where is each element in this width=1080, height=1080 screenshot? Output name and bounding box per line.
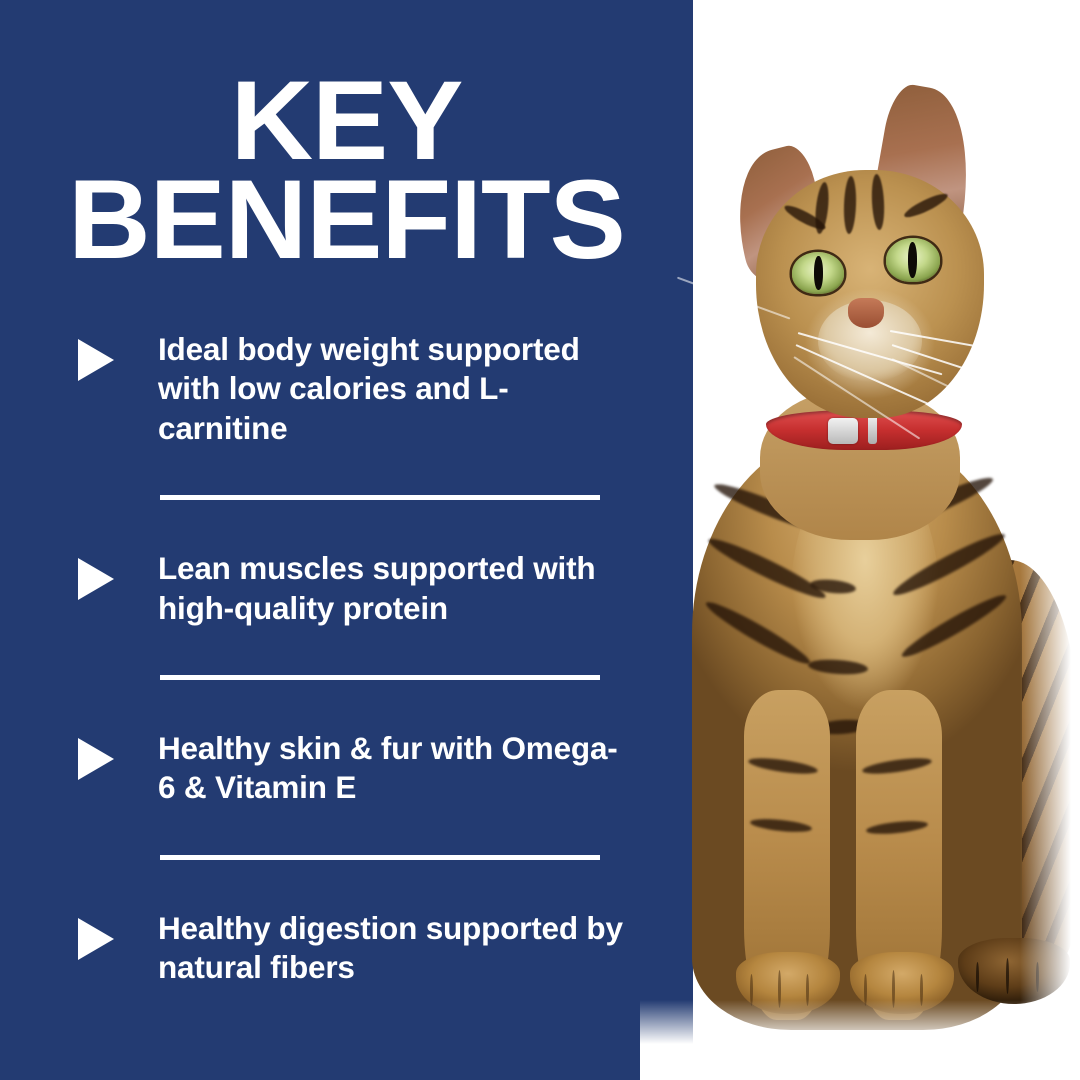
cat-pupil-right <box>908 242 917 278</box>
list-item: Ideal body weight supported with low cal… <box>0 330 693 448</box>
benefit-text: Healthy skin & fur with Omega-6 & Vitami… <box>158 729 628 808</box>
spacer <box>0 448 693 495</box>
benefits-list: Ideal body weight supported with low cal… <box>0 330 693 987</box>
cat-nose <box>848 298 884 328</box>
spacer <box>0 680 693 729</box>
title-line-2: BENEFITS <box>0 171 700 270</box>
benefit-text: Healthy digestion supported by natural f… <box>158 909 628 988</box>
cat-photo <box>640 0 1080 1080</box>
cat-pupil-left <box>814 256 823 290</box>
collar-keeper <box>868 414 877 444</box>
list-item: Healthy skin & fur with Omega-6 & Vitami… <box>0 729 693 808</box>
spacer <box>0 860 693 909</box>
spacer <box>0 808 693 855</box>
list-item: Healthy digestion supported by natural f… <box>0 909 693 988</box>
key-benefits-panel: KEY BENEFITS Ideal body weight supported… <box>0 0 1080 1080</box>
collar-buckle-icon <box>828 418 858 444</box>
list-item: Lean muscles supported with high-quality… <box>0 549 693 628</box>
triangle-right-icon <box>78 339 114 381</box>
benefit-text: Lean muscles supported with high-quality… <box>158 549 628 628</box>
spacer <box>0 628 693 675</box>
page-title: KEY BENEFITS <box>0 72 693 269</box>
spacer <box>0 500 693 549</box>
photo-fade-right <box>1020 0 1080 1080</box>
triangle-right-icon <box>78 738 114 780</box>
benefit-text: Ideal body weight supported with low cal… <box>158 330 628 448</box>
triangle-right-icon <box>78 558 114 600</box>
triangle-right-icon <box>78 918 114 960</box>
photo-fade-bottom <box>640 1000 1080 1080</box>
